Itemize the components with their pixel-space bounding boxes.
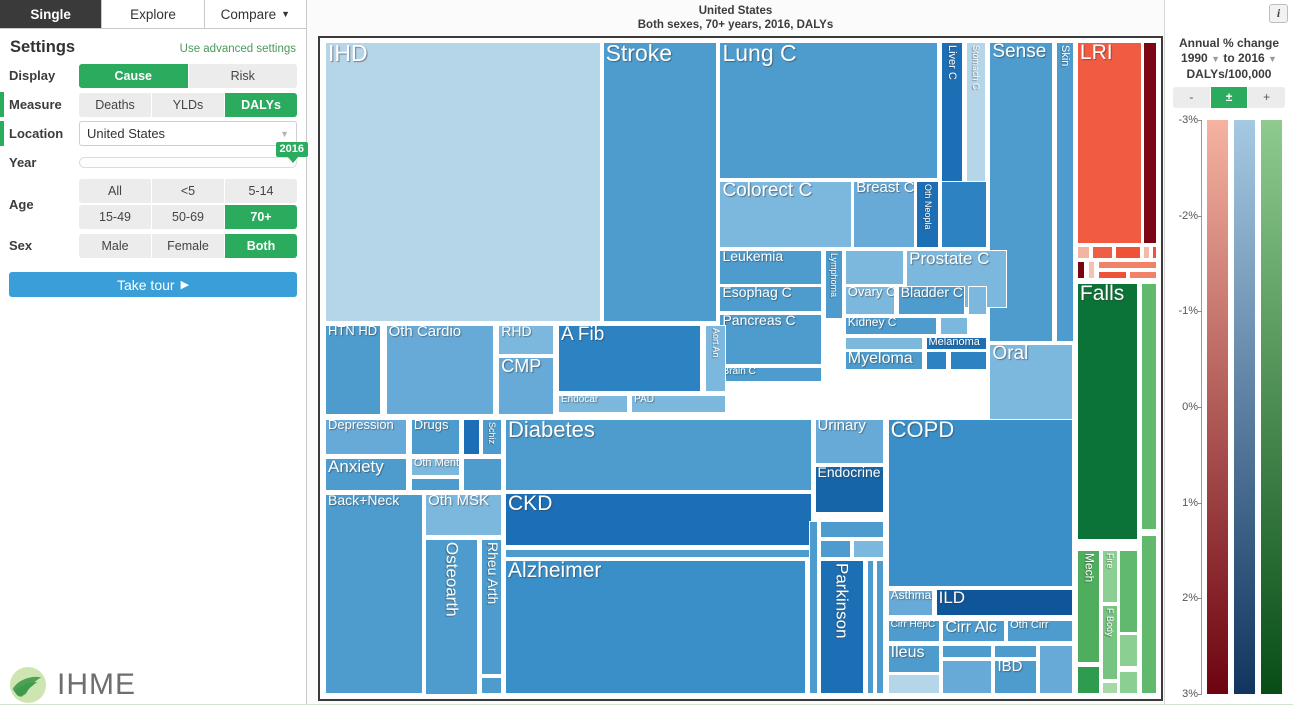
treemap-cell[interactable] [463,458,502,491]
treemap-cell-label: Breast C [856,181,914,197]
treemap-cell[interactable] [809,521,817,695]
treemap-cell-colorect-c[interactable]: Colorect C [719,181,851,247]
legend-tick-mark [1198,216,1202,217]
treemap-cell-label: Prostate C [909,250,989,268]
ihme-logo: IHME [9,666,136,704]
treemap-cell-label: HTN HD [328,325,377,339]
legend-gradient-green [1261,120,1282,694]
location-select[interactable]: United States ▼ [79,121,297,146]
treemap-cell[interactable] [505,549,812,558]
treemap-cell-lung-c[interactable]: Lung C [719,42,938,179]
treemap-cell-label: Falls [1080,283,1124,306]
location-active-marker [0,121,4,146]
age-option-under5[interactable]: <5 [152,179,225,203]
app-root: Single Explore Compare ▼ Settings Use ad… [0,0,1293,710]
treemap-cell-label: Colorect C [722,181,812,201]
measure-active-marker [0,92,4,117]
treemap-cell[interactable] [942,645,992,658]
chevron-down-icon[interactable]: ▼ [1211,54,1220,64]
treemap-cell-label: Aort An [711,328,721,358]
footer-strip [0,704,1293,710]
treemap-cell-osteoarth[interactable]: Osteoarth [425,539,478,695]
treemap-cell-label: RHD [501,325,531,340]
treemap-cell-label: Esophag C [722,286,791,301]
age-option-15-49[interactable]: 15-49 [79,205,152,229]
treemap-cell-oth-neopla[interactable]: Oth Neopla [916,181,939,247]
age-row-2: 15-49 50-69 70+ [79,205,297,229]
row-location: Location United States ▼ [9,121,297,146]
treemap-cell[interactable] [968,286,987,315]
treemap-cell-falls[interactable]: Falls [1077,283,1138,541]
treemap-cell-label: Leukemia [722,250,783,265]
display-segmented: Cause Risk [79,64,297,88]
treemap-cell-endocar[interactable]: Endocar [558,395,628,413]
treemap-cell[interactable] [940,317,969,335]
chart-area: United States Both sexes, 70+ years, 201… [308,0,1163,710]
treemap-cell[interactable] [1115,246,1141,259]
treemap-cell-kidney-c[interactable]: Kidney C [845,317,938,335]
treemap-cell-f-body[interactable]: F Body [1102,605,1118,680]
sex-label: Sex [9,238,79,253]
treemap-cell[interactable] [942,660,992,694]
sex-option-female[interactable]: Female [152,234,225,258]
measure-option-dalys[interactable]: DALYs [225,93,297,117]
location-label: Location [9,126,79,141]
treemap-cell-oth-cirr[interactable]: Oth Cirr [1007,620,1073,642]
treemap-cell[interactable] [845,250,904,285]
treemap-cell[interactable] [853,540,884,557]
treemap-cell[interactable] [1098,261,1157,270]
age-option-5-14[interactable]: 5-14 [225,179,297,203]
treemap-cell[interactable] [463,419,480,455]
treemap-cell[interactable] [411,478,460,491]
treemap-cell-label: Cirr HepC [891,620,935,630]
display-option-cause[interactable]: Cause [79,64,189,88]
treemap-cell-depression[interactable]: Depression [325,419,407,455]
legend-year-end[interactable]: to 2016 [1223,51,1264,65]
advanced-settings-link[interactable]: Use advanced settings [180,43,296,55]
treemap-cell-label: Melanoma [929,337,980,348]
treemap-cell[interactable] [1141,283,1157,531]
treemap-cell-label: Drugs [414,419,449,433]
treemap-cell-label: Endocar [561,395,598,405]
play-icon: ▶ [181,278,189,291]
treemap-cell[interactable] [481,677,501,694]
tab-explore-label: Explore [130,7,176,22]
settings-title: Settings [10,38,75,57]
chart-title-line2: Both sexes, 70+ years, 2016, DALYs [308,18,1163,32]
legend-tick-mark [1198,694,1202,695]
treemap-cell-ibd[interactable]: IBD [994,660,1036,694]
treemap-cell[interactable] [1077,261,1085,280]
treemap-cell-skin[interactable]: Skin [1056,42,1075,342]
treemap-cell-label: Lymphoma [829,253,839,297]
treemap-cell-label: Stomach C [971,45,981,90]
row-sex: Sex Male Female Both [9,233,297,258]
treemap-cell-label: LRI [1080,42,1113,65]
display-label: Display [9,68,79,83]
treemap-cell-label: Ovary C [848,286,895,300]
treemap-cell-lymphoma[interactable]: Lymphoma [825,250,844,319]
age-row-1: All <5 5-14 [79,179,297,203]
treemap-cell[interactable] [867,560,875,694]
ihme-wordmark: IHME [57,668,136,702]
treemap-cell-ileus[interactable]: Ileus [888,645,940,673]
mode-tabbar: Single Explore Compare ▼ [0,0,306,29]
treemap-cell-alzheimer[interactable]: Alzheimer [505,560,806,694]
age-option-70plus[interactable]: 70+ [225,205,297,229]
location-value: United States [87,126,165,141]
treemap-cell-urinary[interactable]: Urinary [815,419,885,465]
settings-panel: Single Explore Compare ▼ Settings Use ad… [0,0,307,710]
settings-body: Settings Use advanced settings Display C… [0,29,306,258]
treemap-cell-schiz[interactable]: Schiz [482,419,501,455]
treemap-cell-breast-c[interactable]: Breast C [853,181,914,247]
treemap-cell-label: ILD [939,589,965,607]
treemap-cell-diabetes[interactable]: Diabetes [505,419,812,491]
treemap-cell[interactable] [994,645,1036,658]
age-option-all[interactable]: All [79,179,152,203]
treemap-cell-copd[interactable]: COPD [888,419,1073,588]
legend-tick-label: -3% [1178,114,1198,126]
treemap-cell[interactable] [1141,535,1157,694]
tab-compare[interactable]: Compare ▼ [205,0,306,28]
legend-gradient-red [1207,120,1228,694]
treemap-cell-label: Mech [1082,553,1095,582]
treemap-cell-label: Depression [328,419,394,433]
treemap-cell-label: Back+Neck [328,494,399,509]
treemap-cell-label: Cirr Alc [945,620,997,637]
measure-label: Measure [9,97,79,112]
treemap-cell-label: Oth Ment [414,458,459,469]
treemap-cell-label: Oth Cardio [389,325,462,341]
take-tour-label: Take tour [117,277,175,293]
legend-year-range: 1990 ▼ to 2016 ▼ [1165,51,1293,67]
treemap-cell-back-neck[interactable]: Back+Neck [325,494,423,694]
treemap-cell[interactable] [950,351,987,370]
legend-tick-label: 1% [1182,497,1198,509]
legend-tick-label: 3% [1182,688,1198,700]
legend-tick-mark [1198,503,1202,504]
row-measure: Measure Deaths YLDs DALYs [9,92,297,117]
legend-tick-mark [1198,598,1202,599]
treemap-cell[interactable] [876,560,884,694]
treemap-cell[interactable] [1119,671,1138,694]
chevron-down-icon: ▼ [280,129,289,139]
treemap-cell-label: F Body [1105,608,1115,637]
treemap-cell-anxiety[interactable]: Anxiety [325,458,407,491]
treemap-cell-label: Oth Neopla [923,184,933,230]
treemap-cell[interactable] [1129,271,1157,280]
treemap-cell-cirr-hepc[interactable]: Cirr HepC [888,620,940,642]
row-age: Age All <5 5-14 15-49 50-69 70+ [9,179,297,229]
treemap-cell-asthma[interactable]: Asthma [888,590,933,616]
treemap-cell-label: IHD [328,42,368,67]
year-label: Year [9,155,79,170]
treemap-cell-endocrine[interactable]: Endocrine [815,466,885,512]
treemap-cell-pad[interactable]: PAD [631,395,726,413]
treemap-cell-label: A Fib [561,325,604,345]
legend-tick-label: 2% [1182,592,1198,604]
legend-tick-mark [1198,120,1202,121]
treemap-cell-label: Skin [1059,45,1071,66]
treemap-cell[interactable] [1119,634,1138,667]
legend-both-button[interactable]: ± [1211,87,1249,108]
treemap-cell-bladder-c[interactable]: Bladder C [898,286,965,315]
treemap-cell-label: CKD [508,493,552,516]
tab-single[interactable]: Single [0,0,102,28]
treemap-cell-fire[interactable]: Fire [1102,550,1118,603]
treemap-cell-esophag-c[interactable]: Esophag C [719,286,822,312]
legend-panel: i Annual % change 1990 ▼ to 2016 ▼ DALYs… [1164,0,1293,710]
treemap-cell-cirr-alc[interactable]: Cirr Alc [942,620,1004,642]
sex-option-both[interactable]: Both [225,234,297,258]
treemap-cell-parkinson[interactable]: Parkinson [820,560,864,694]
treemap-cell-ckd[interactable]: CKD [505,493,812,547]
treemap-cell[interactable] [1098,271,1127,280]
treemap-cell[interactable] [1152,246,1157,259]
treemap-cell-label: Bladder C [901,286,963,301]
treemap-cell-label: Anxiety [328,458,384,476]
ihme-leaf-icon [9,666,47,704]
treemap-cell-ihd[interactable]: IHD [325,42,601,322]
age-label: Age [9,197,79,212]
age-segmented: All <5 5-14 15-49 50-69 70+ [79,179,297,229]
legend-positive-button[interactable]: + [1248,87,1285,108]
year-slider-value: 2016 [276,142,308,157]
measure-option-ylds[interactable]: YLDs [152,93,225,117]
treemap-cell-oth-ment[interactable]: Oth Ment [411,458,460,476]
treemap-cell-label: Fire [1105,553,1115,569]
treemap-cell[interactable] [1088,261,1096,280]
legend-negative-button[interactable]: - [1173,87,1211,108]
treemap-cell-pancreas-c[interactable]: Pancreas C [719,314,822,364]
treemap-cell-label: Schiz [487,422,497,444]
age-option-50-69[interactable]: 50-69 [152,205,225,229]
treemap-cell-label: Oth Cirr [1010,620,1049,631]
treemap-cell-rheu-arth[interactable]: Rheu Arth [481,539,501,675]
legend-tick-label: 0% [1182,401,1198,413]
treemap-cell-htn-hd[interactable]: HTN HD [325,325,381,415]
treemap-cell-label: Ileus [891,645,925,662]
treemap-cell-label: Liver C [946,45,958,80]
treemap-cell[interactable] [820,540,850,557]
treemap-cell[interactable] [1077,246,1090,259]
treemap-cell-drugs[interactable]: Drugs [411,419,460,455]
treemap-cell[interactable] [941,181,987,247]
treemap-cell-label: Diabetes [508,419,595,443]
treemap-cell-label: Pancreas C [722,314,795,329]
legend-tick-mark [1198,407,1202,408]
legend-scale: -3%-2%-1%0%1%2%3% [1165,112,1293,702]
treemap-cell[interactable] [926,351,948,370]
treemap-cell-label: COPD [891,419,955,443]
tab-explore[interactable]: Explore [102,0,204,28]
treemap-cell-oth-msk[interactable]: Oth MSK [425,494,502,536]
legend-title: Annual % change [1165,36,1293,51]
legend-sign-filter: - ± + [1173,87,1285,108]
treemap-cell-label: Brain C [722,367,755,377]
treemap-cell-a-fib[interactable]: A Fib [558,325,701,392]
treemap-cell-aort-an[interactable]: Aort An [705,325,726,392]
treemap-cell-label: Kidney C [848,317,897,329]
treemap-cell[interactable] [888,674,940,694]
sex-option-male[interactable]: Male [79,234,152,258]
treemap-cell-label: Stroke [606,42,672,67]
treemap-cell-label: Oth MSK [428,494,489,510]
tab-single-label: Single [30,7,71,22]
legend-gradient-blue [1234,120,1255,694]
treemap-cell-label: CMP [501,357,541,376]
treemap-cell-label: Endocrine [818,466,881,481]
treemap-cell-leukemia[interactable]: Leukemia [719,250,822,285]
treemap-cell-label: Osteoarth [442,542,461,617]
treemap-cell-label: Asthma [891,590,932,602]
chart-title: United States Both sexes, 70+ years, 201… [308,0,1163,32]
sex-segmented: Male Female Both [79,234,297,258]
treemap-cell-label: Parkinson [833,563,852,639]
treemap-cell-label: PAD [634,395,654,405]
treemap-cell-ovary-c[interactable]: Ovary C [845,286,895,315]
treemap-cell[interactable] [1092,246,1113,259]
treemap-cell-stroke[interactable]: Stroke [603,42,717,322]
treemap-cell-label: IBD [997,660,1022,676]
year-slider-track[interactable] [79,157,297,168]
treemap-cell[interactable] [1039,645,1073,695]
treemap-cell-rhd[interactable]: RHD [498,325,554,355]
chart-title-line1: United States [308,4,1163,18]
measure-option-deaths[interactable]: Deaths [79,93,152,117]
take-tour-button[interactable]: Take tour ▶ [9,272,297,297]
treemap-cell[interactable] [1119,550,1138,633]
treemap-cell-label: Rheu Arth [484,542,500,604]
legend-unit: DALYs/100,000 [1165,67,1293,82]
chevron-down-icon[interactable]: ▼ [1268,54,1277,64]
treemap-cell-label: Alzheimer [508,560,601,583]
treemap-cell-melanoma[interactable]: Melanoma [926,337,987,350]
row-year: Year 2016 [9,150,297,175]
legend-tick-mark [1198,311,1202,312]
legend-tick-label: -1% [1178,305,1198,317]
treemap-cell-ild[interactable]: ILD [936,589,1073,617]
legend-tick-label: -2% [1178,210,1198,222]
row-display: Display Cause Risk [9,63,297,88]
info-icon[interactable]: i [1269,4,1288,23]
treemap-cell-label: Urinary [818,419,866,435]
treemap-cell-lri[interactable]: LRI [1077,42,1142,244]
treemap-cell-myeloma[interactable]: Myeloma [845,351,923,370]
treemap-cell-label: Myeloma [848,351,913,368]
treemap-cell-label: Lung C [722,42,796,67]
treemap-cell[interactable] [1143,42,1156,244]
treemap[interactable]: IHDStrokeLung CLiver CStomach CSenseSkin… [318,36,1163,701]
treemap-cell[interactable] [1102,682,1118,694]
treemap-cell[interactable] [1143,246,1150,259]
treemap-cell-label: Sense [992,42,1046,62]
year-slider[interactable]: 2016 [79,152,297,174]
treemap-cell[interactable] [1077,666,1101,694]
treemap-cell[interactable] [820,521,884,538]
treemap-cell-mech[interactable]: Mech [1077,550,1101,662]
treemap-cell-label: Oral [992,344,1028,364]
chevron-down-icon: ▼ [281,9,290,19]
treemap-cell-cmp[interactable]: CMP [498,357,554,415]
treemap-cell-oth-cardio[interactable]: Oth Cardio [386,325,494,415]
settings-header: Settings Use advanced settings [9,29,297,63]
legend-year-start[interactable]: 1990 [1181,51,1208,65]
measure-segmented: Deaths YLDs DALYs [79,93,297,117]
display-option-risk[interactable]: Risk [189,64,298,88]
tab-compare-label: Compare [221,7,277,22]
treemap-cell[interactable] [845,337,923,350]
treemap-cell-brain-c[interactable]: Brain C [719,367,822,382]
